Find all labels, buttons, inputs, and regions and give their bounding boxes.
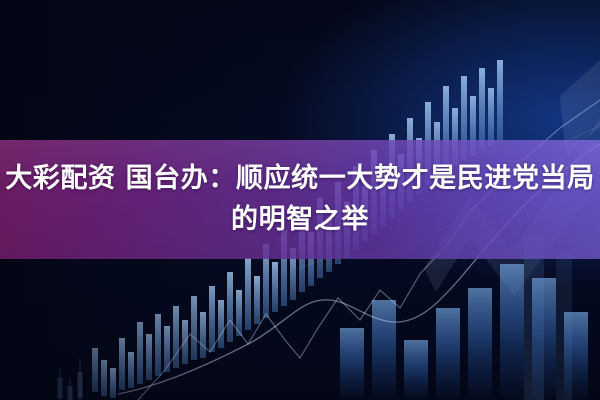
- headline-line-1: 大彩配资 国台办：顺应统一大势才是民进党当局: [5, 160, 595, 198]
- headline-block: 大彩配资 国台办：顺应统一大势才是民进党当局 的明智之举: [0, 140, 600, 259]
- banner-image: 大彩配资 国台办：顺应统一大势才是民进党当局 的明智之举: [0, 0, 600, 400]
- headline-line-2: 的明智之举: [231, 201, 369, 239]
